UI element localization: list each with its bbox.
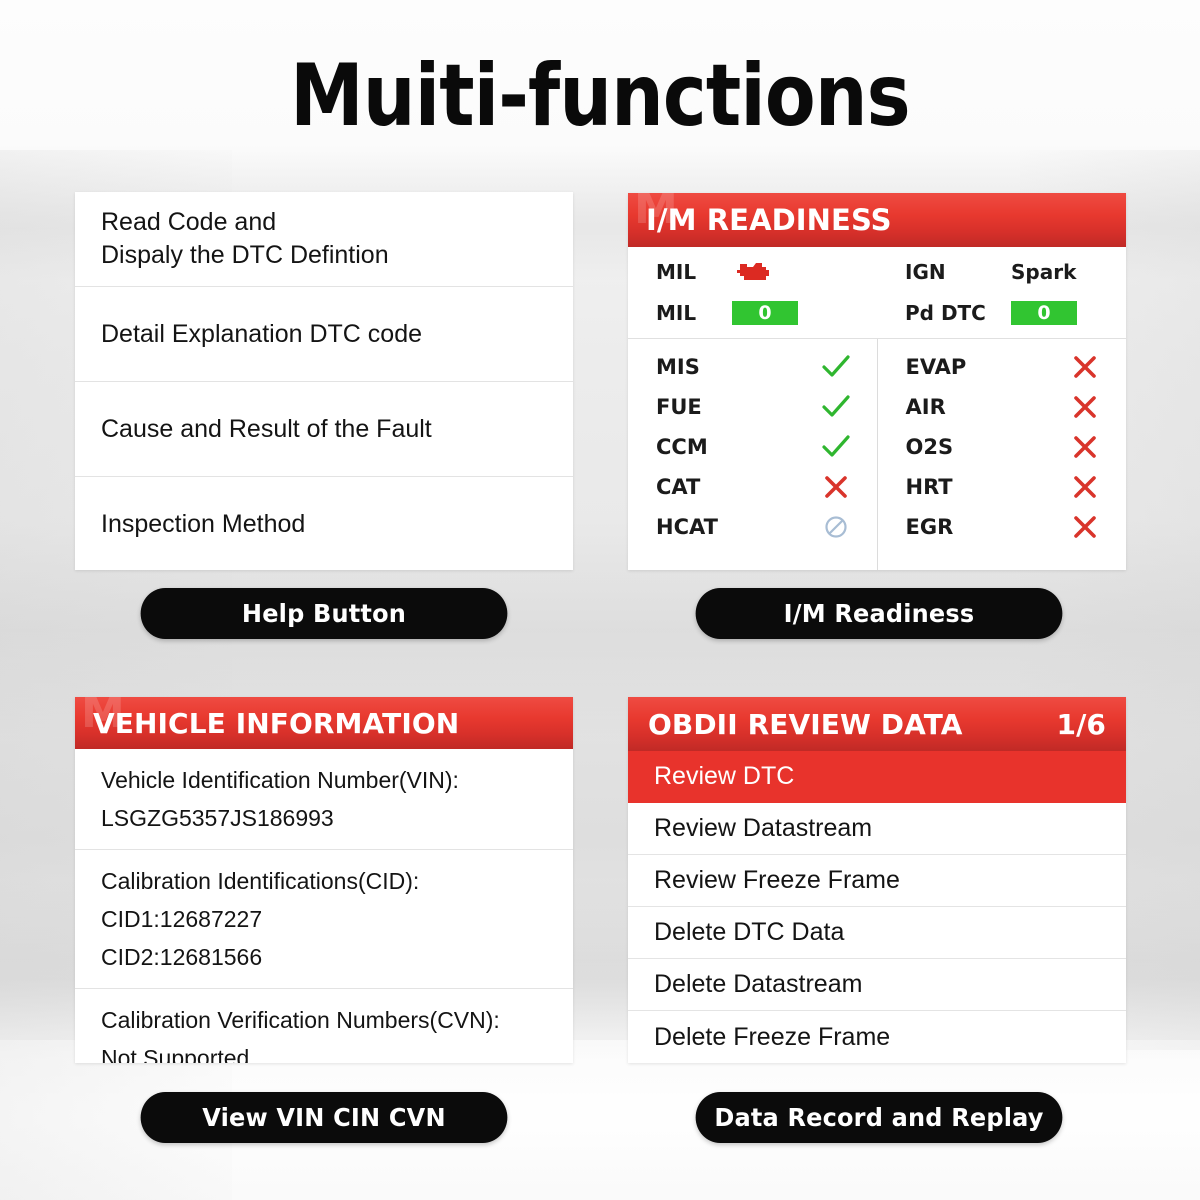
list-item[interactable]: Read Code and Dispaly the DTC Defintion — [75, 192, 573, 287]
cross-icon — [1068, 434, 1102, 460]
vin-row: Vehicle Identification Number(VIN): LSGZ… — [75, 749, 573, 850]
cross-icon — [1072, 394, 1098, 420]
monitor-row: MIS — [628, 347, 877, 387]
im-monitor-grid: MISFUECCMCATHCAT EVAPAIRO2SHRTEGR — [628, 339, 1126, 570]
obdii-review-data-header: OBDII REVIEW DATA 1/6 — [628, 697, 1126, 751]
monitor-row: CCM — [628, 427, 877, 467]
mil-count-cell: MIL 0 — [628, 293, 877, 335]
ign-label: IGN — [905, 260, 1011, 284]
monitor-row: EVAP — [878, 347, 1127, 387]
cross-icon — [1068, 394, 1102, 420]
monitor-row: AIR — [878, 387, 1127, 427]
mil-lamp-label: MIL — [656, 260, 732, 284]
status-badge: 0 — [1011, 301, 1077, 325]
list-item[interactable]: Cause and Result of the Fault — [75, 382, 573, 477]
obdii-menu-item-label: Review DTC — [654, 762, 794, 791]
im-readiness-header: M I/M READINESS — [628, 193, 1126, 247]
obdii-review-data-header-title: OBDII REVIEW DATA — [648, 708, 963, 741]
not-available-icon — [823, 514, 849, 540]
cross-icon — [1072, 474, 1098, 500]
pd-dtc-cell: Pd DTC 0 — [877, 293, 1126, 335]
page-title: Muiti-functions — [84, 48, 1116, 144]
im-readiness-header-title: I/M READINESS — [646, 203, 892, 237]
check-icon — [819, 354, 853, 380]
help-function-panel: Read Code and Dispaly the DTC Defintion … — [75, 192, 573, 570]
cross-icon — [1072, 434, 1098, 460]
cross-icon — [819, 474, 853, 500]
check-icon — [819, 394, 853, 420]
cross-icon — [1068, 354, 1102, 380]
obdii-menu-item[interactable]: Delete Datastream — [628, 959, 1126, 1011]
page-counter: 1/6 — [1057, 708, 1107, 741]
obdii-menu-item-label: Delete DTC Data — [654, 918, 844, 947]
monitor-name: FUE — [656, 395, 702, 419]
monitor-row: O2S — [878, 427, 1127, 467]
check-engine-icon — [732, 260, 772, 284]
obdii-menu-item[interactable]: Delete Freeze Frame — [628, 1011, 1126, 1063]
monitor-name: CCM — [656, 435, 708, 459]
help-row-label: Inspection Method — [101, 508, 305, 541]
vehicle-information-header-title: VEHICLE INFORMATION — [93, 707, 459, 740]
obdii-menu-item-label: Review Freeze Frame — [654, 866, 900, 895]
cross-icon — [1072, 514, 1098, 540]
monitor-name: O2S — [906, 435, 954, 459]
obdii-menu-item-label: Review Datastream — [654, 814, 872, 843]
obdii-menu-item-selected[interactable]: Review DTC — [628, 751, 1126, 803]
obdii-menu-list: Review DTCReview DatastreamReview Freeze… — [628, 751, 1126, 1063]
im-readiness-button[interactable]: I/M Readiness — [696, 588, 1063, 639]
cvn-row: Calibration Verification Numbers(CVN): N… — [75, 989, 573, 1063]
ign-cell: IGN Spark — [877, 251, 1126, 293]
cross-icon — [823, 474, 849, 500]
monitor-row: HCAT — [628, 507, 877, 547]
monitor-name: CAT — [656, 475, 700, 499]
help-button[interactable]: Help Button — [141, 588, 508, 639]
vehicle-information-header: M VEHICLE INFORMATION — [75, 697, 573, 749]
mil-lamp-cell: MIL — [628, 251, 877, 293]
obdii-menu-item[interactable]: Review Datastream — [628, 803, 1126, 855]
monitor-name: EVAP — [906, 355, 967, 379]
ign-value: Spark — [1011, 260, 1076, 284]
monitor-row: CAT — [628, 467, 877, 507]
list-item[interactable]: Inspection Method — [75, 477, 573, 570]
view-vin-cin-cvn-button[interactable]: View VIN CIN CVN — [141, 1092, 508, 1143]
list-item[interactable]: Detail Explanation DTC code — [75, 287, 573, 382]
monitor-row: EGR — [878, 507, 1127, 547]
mil-count-label: MIL — [656, 301, 732, 325]
monitor-row: HRT — [878, 467, 1127, 507]
monitor-name: EGR — [906, 515, 954, 539]
im-summary-grid: MIL IGN Spark MIL 0 Pd DTC 0 — [628, 247, 1126, 339]
help-row-label: Cause and Result of the Fault — [101, 413, 432, 446]
help-row-label: Read Code and Dispaly the DTC Defintion — [101, 206, 389, 272]
not-available-icon — [819, 514, 853, 540]
obdii-menu-item-label: Delete Freeze Frame — [654, 1023, 890, 1052]
check-icon — [821, 354, 851, 380]
status-badge: 0 — [732, 301, 798, 325]
cid-row: Calibration Identifications(CID): CID1:1… — [75, 850, 573, 989]
cross-icon — [1072, 354, 1098, 380]
im-monitor-column-left: MISFUECCMCATHCAT — [628, 339, 878, 570]
obdii-review-data-panel: OBDII REVIEW DATA 1/6 Review DTCReview D… — [628, 697, 1126, 1063]
obdii-menu-item[interactable]: Delete DTC Data — [628, 907, 1126, 959]
cross-icon — [1068, 514, 1102, 540]
vehicle-information-panel: M VEHICLE INFORMATION Vehicle Identifica… — [75, 697, 573, 1063]
monitor-name: MIS — [656, 355, 700, 379]
im-readiness-panel: M I/M READINESS MIL IGN Spark MIL 0 Pd D… — [628, 193, 1126, 570]
monitor-row: FUE — [628, 387, 877, 427]
help-row-label: Detail Explanation DTC code — [101, 318, 422, 351]
check-icon — [821, 434, 851, 460]
obdii-menu-item-label: Delete Datastream — [654, 970, 862, 999]
check-icon — [819, 434, 853, 460]
cross-icon — [1068, 474, 1102, 500]
monitor-name: HRT — [906, 475, 953, 499]
pd-dtc-label: Pd DTC — [905, 301, 1011, 325]
obdii-menu-item[interactable]: Review Freeze Frame — [628, 855, 1126, 907]
monitor-name: HCAT — [656, 515, 718, 539]
im-monitor-column-right: EVAPAIRO2SHRTEGR — [878, 339, 1127, 570]
monitor-name: AIR — [906, 395, 946, 419]
data-record-and-replay-button[interactable]: Data Record and Replay — [696, 1092, 1063, 1143]
check-icon — [821, 394, 851, 420]
